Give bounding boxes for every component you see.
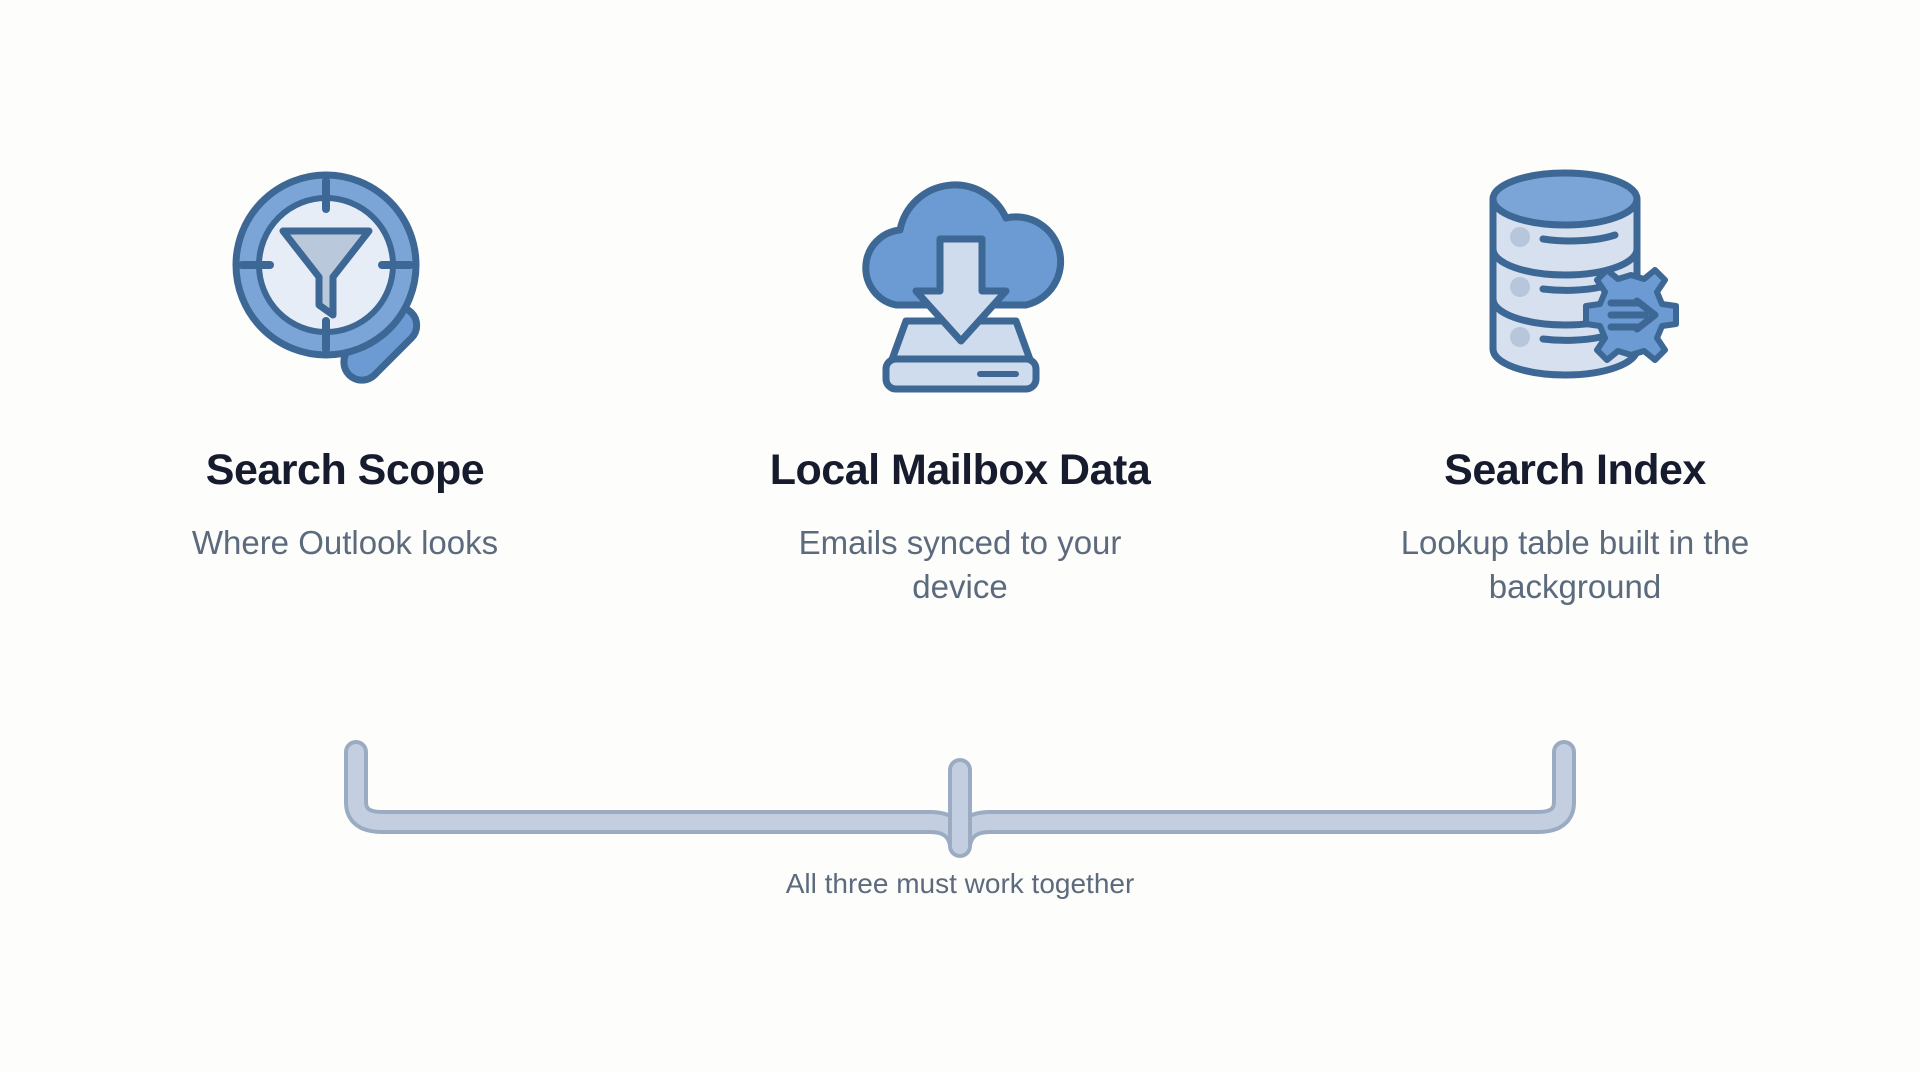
- card-subtitle: Emails synced to your device: [750, 521, 1170, 609]
- concept-card-search-scope: Search Scope Where Outlook looks: [130, 150, 560, 565]
- card-title: Local Mailbox Data: [770, 448, 1150, 493]
- card-title: Search Index: [1444, 448, 1706, 493]
- card-title: Search Scope: [206, 448, 484, 493]
- database-gear-index-icon: [1435, 150, 1715, 400]
- magnifier-filter-icon: [205, 150, 485, 400]
- concept-card-local-mailbox-data: Local Mailbox Data Emails synced to your…: [745, 150, 1175, 610]
- card-subtitle: Lookup table built in the background: [1375, 521, 1775, 609]
- concept-card-search-index: Search Index Lookup table built in the b…: [1360, 150, 1790, 610]
- card-subtitle: Where Outlook looks: [192, 521, 498, 565]
- brace-caption: All three must work together: [0, 868, 1920, 900]
- brace-connector: [0, 740, 1920, 860]
- concept-columns: Search Scope Where Outlook looks Local M…: [0, 150, 1920, 610]
- cloud-download-device-icon: [820, 150, 1100, 400]
- diagram-canvas: Search Scope Where Outlook looks Local M…: [0, 0, 1920, 1072]
